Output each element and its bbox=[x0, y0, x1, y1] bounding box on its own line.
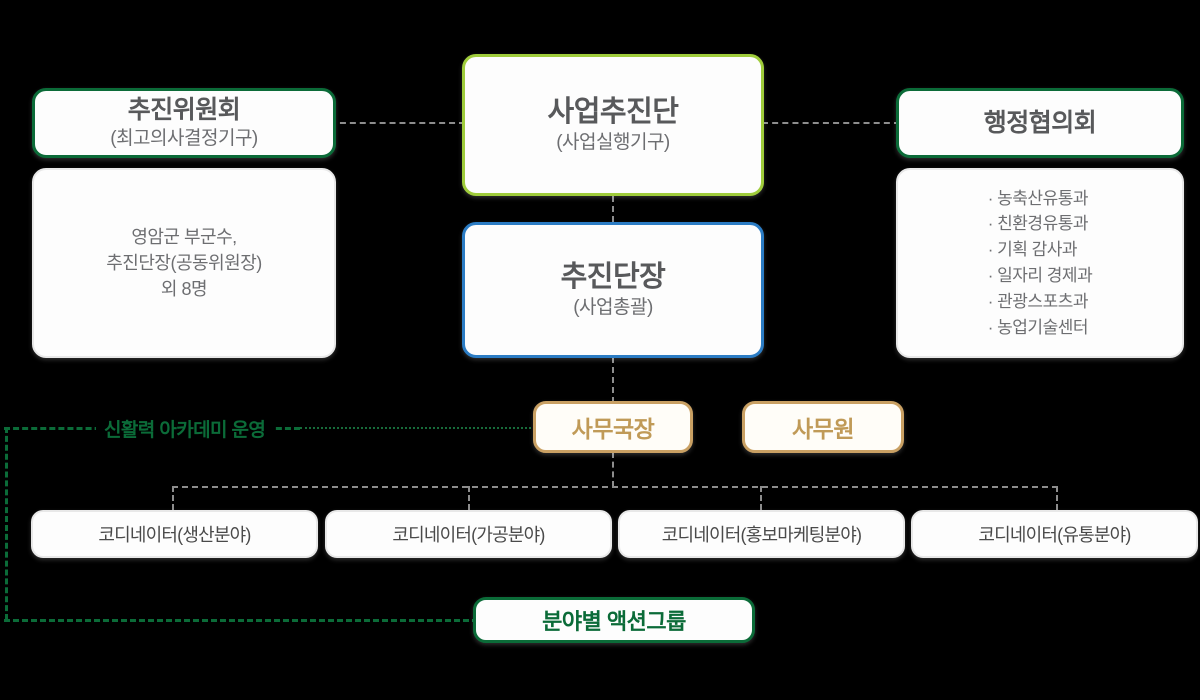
connector-center-vertical-1 bbox=[612, 196, 614, 222]
committee-subtitle: (최고의사결정기구) bbox=[110, 127, 258, 151]
office-clerk-box[interactable]: 사무원 bbox=[742, 401, 904, 453]
department-item: · 일자리 경제과 bbox=[988, 263, 1092, 289]
project-team-subtitle: (사업실행기구) bbox=[556, 131, 670, 155]
committee-member-line-1: 영암군 부군수, bbox=[131, 224, 236, 250]
project-team-title: 사업추진단 bbox=[548, 95, 679, 129]
department-item: · 친환경유통과 bbox=[988, 211, 1092, 237]
connector-coordinator-drop-4 bbox=[1056, 486, 1058, 510]
office-chief-box[interactable]: 사무국장 bbox=[533, 401, 693, 453]
connector-center-vertical-2 bbox=[612, 357, 614, 403]
connector-center-vertical-3 bbox=[612, 452, 614, 487]
coordinator-box-production[interactable]: 코디네이터(생산분야) bbox=[31, 510, 318, 558]
green-route-bottom bbox=[4, 619, 478, 622]
coordinator-box-processing[interactable]: 코디네이터(가공분야) bbox=[325, 510, 612, 558]
committee-title: 추진위원회 bbox=[128, 95, 241, 125]
department-item: · 기획 감사과 bbox=[988, 237, 1092, 263]
admin-council-departments-box[interactable]: · 농축산유통과 · 친환경유통과 · 기획 감사과 · 일자리 경제과 · 관… bbox=[896, 168, 1184, 358]
committee-members-box[interactable]: 영암군 부군수, 추진단장(공동위원장) 외 8명 bbox=[32, 168, 336, 358]
coordinator-label: 코디네이터(홍보마케팅분야) bbox=[662, 521, 862, 547]
office-chief-label: 사무국장 bbox=[572, 410, 655, 444]
org-chart-diagram: 신활력 아카데미 운영 추진위원회 (최고의사결정기구) 영암군 부군수, 추진… bbox=[0, 0, 1200, 700]
coordinator-label: 코디네이터(유통분야) bbox=[978, 521, 1130, 547]
connector-left-to-center bbox=[330, 122, 465, 124]
connector-coordinator-bus bbox=[172, 486, 1058, 488]
department-item: · 관광스포츠과 bbox=[988, 289, 1092, 315]
project-team-box[interactable]: 사업추진단 (사업실행기구) bbox=[462, 54, 764, 196]
connector-coordinator-drop-1 bbox=[172, 486, 174, 510]
academy-label: 신활력 아카데미 운영 bbox=[96, 415, 273, 442]
team-leader-subtitle: (사업총괄) bbox=[573, 296, 653, 320]
green-route-left bbox=[5, 427, 8, 620]
team-leader-box[interactable]: 추진단장 (사업총괄) bbox=[462, 222, 764, 358]
coordinator-box-marketing[interactable]: 코디네이터(홍보마케팅분야) bbox=[618, 510, 905, 558]
connector-center-to-right bbox=[762, 122, 900, 124]
admin-council-header-box[interactable]: 행정협의회 bbox=[896, 88, 1184, 158]
committee-header-box[interactable]: 추진위원회 (최고의사결정기구) bbox=[32, 88, 336, 158]
connector-coordinator-drop-3 bbox=[760, 486, 762, 510]
action-group-label: 분야별 액션그룹 bbox=[542, 604, 686, 636]
committee-member-line-3: 외 8명 bbox=[161, 276, 207, 302]
department-item: · 농업기술센터 bbox=[988, 315, 1092, 341]
green-route-to-office-chief bbox=[300, 427, 535, 429]
office-clerk-label: 사무원 bbox=[792, 410, 854, 444]
connector-coordinator-drop-2 bbox=[468, 486, 470, 510]
coordinator-label: 코디네이터(생산분야) bbox=[98, 521, 250, 547]
department-list: · 농축산유통과 · 친환경유통과 · 기획 감사과 · 일자리 경제과 · 관… bbox=[988, 186, 1092, 341]
department-item: · 농축산유통과 bbox=[988, 186, 1092, 212]
coordinator-label: 코디네이터(가공분야) bbox=[392, 521, 544, 547]
admin-council-title: 행정협의회 bbox=[984, 108, 1097, 138]
coordinator-box-distribution[interactable]: 코디네이터(유통분야) bbox=[911, 510, 1198, 558]
action-group-box[interactable]: 분야별 액션그룹 bbox=[473, 597, 755, 643]
committee-member-line-2: 추진단장(공동위원장) bbox=[106, 250, 262, 276]
team-leader-title: 추진단장 bbox=[561, 260, 666, 294]
